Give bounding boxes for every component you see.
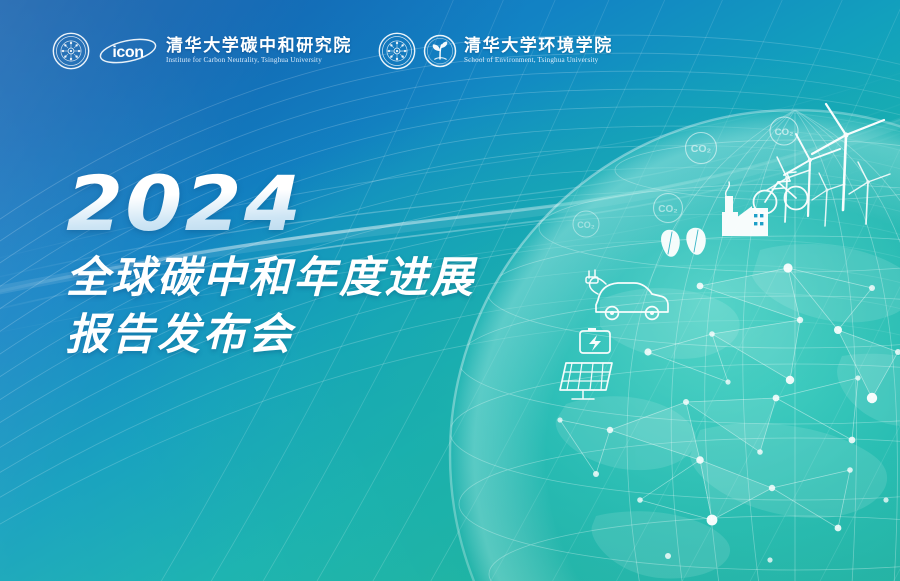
conference-banner: CO₂ CO₂ CO₂ CO₂: [0, 0, 900, 581]
bicycle-icon: [754, 172, 808, 214]
continent-shapes: [556, 244, 900, 578]
globe-rim-highlight: [450, 110, 900, 581]
leaf-icon: [661, 228, 706, 257]
longitude-lines: [627, 110, 900, 581]
co2-bubble: CO₂: [573, 211, 599, 237]
logo-bar: icon 清华大学碳中和研究院 Institute for Carbon Neu…: [52, 32, 613, 70]
svg-text:CO₂: CO₂: [691, 143, 712, 155]
title-block: 2024 全球碳中和年度进展 报告发布会: [66, 168, 476, 363]
wind-turbine-icon: [849, 162, 890, 224]
latitude-lines: [450, 140, 900, 581]
logo-name-cn: 清华大学碳中和研究院: [166, 37, 352, 54]
event-title-line-2: 报告发布会: [66, 308, 476, 363]
tsinghua-seal-icon: [52, 32, 90, 70]
battery-charge-icon: [580, 328, 610, 353]
logo-name-en: Institute for Carbon Neutrality, Tsinghu…: [166, 57, 352, 64]
svg-text:icon: icon: [112, 44, 143, 61]
co2-bubble: CO₂: [770, 117, 798, 145]
icon-wordmark-logo: icon: [97, 36, 159, 66]
wind-turbine-icon: [812, 173, 845, 226]
wind-turbine-icon: [812, 104, 884, 210]
logo-school-of-environment: 清华大学环境学院 School of Environment, Tsinghua…: [378, 32, 613, 70]
electric-car-icon: [586, 270, 668, 319]
svg-text:CO₂: CO₂: [577, 220, 595, 230]
event-year: 2024: [66, 168, 508, 241]
svg-text:CO₂: CO₂: [775, 127, 794, 138]
globe-glow: [450, 110, 900, 581]
leaf-sprout-logo: [423, 34, 457, 68]
logo-name-en: School of Environment, Tsinghua Universi…: [464, 57, 613, 64]
network-nodes: [557, 263, 900, 562]
solar-panel-icon: [560, 363, 612, 399]
wind-turbine-icon: [784, 134, 840, 216]
co2-bubble-group: CO₂ CO₂ CO₂ CO₂: [573, 117, 798, 237]
logo-text-block: 清华大学环境学院 School of Environment, Tsinghua…: [464, 37, 613, 64]
logo-institute-carbon-neutrality: icon 清华大学碳中和研究院 Institute for Carbon Neu…: [52, 32, 352, 70]
tsinghua-seal-icon: [378, 32, 416, 70]
network-connections: [560, 268, 898, 528]
wind-turbine-icon: [767, 157, 810, 222]
logo-text-block: 清华大学碳中和研究院 Institute for Carbon Neutrali…: [166, 37, 352, 64]
logo-name-cn: 清华大学环境学院: [464, 37, 613, 54]
event-title-line-1: 全球碳中和年度进展: [66, 251, 476, 306]
svg-text:CO₂: CO₂: [658, 204, 677, 215]
co2-bubble: CO₂: [654, 194, 683, 223]
co2-bubble: CO₂: [686, 133, 717, 164]
factory-icon: [722, 182, 768, 236]
network-fills: [610, 268, 898, 520]
